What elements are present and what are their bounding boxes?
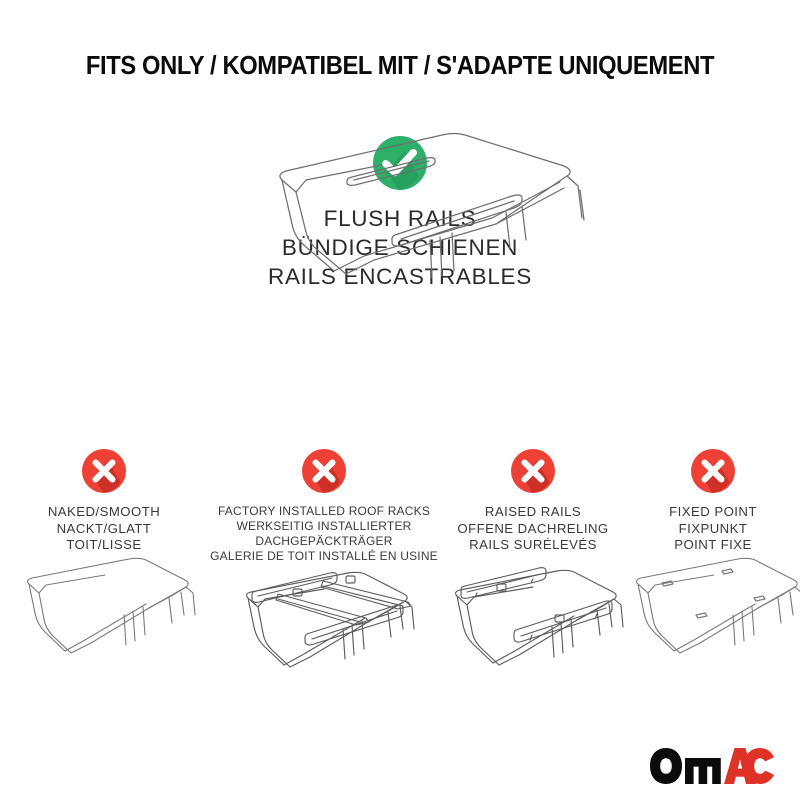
option-label-en: RAISED RAILS bbox=[440, 504, 626, 521]
x-circle-icon bbox=[302, 449, 346, 493]
option-naked-smooth: NAKED/SMOOTH NACKT/GLATT TOIT/LISSE bbox=[0, 449, 208, 554]
option-label-en: NAKED/SMOOTH bbox=[0, 504, 208, 521]
option-label-de-1: WERKSEITIG INSTALLIERTER bbox=[208, 519, 440, 534]
car-roof-fixed-point-illustration bbox=[618, 553, 800, 686]
page-title: FITS ONLY / KOMPATIBEL MIT / S'ADAPTE UN… bbox=[28, 52, 772, 81]
car-roof-factory-roof-racks-illustration bbox=[226, 561, 422, 698]
x-circle-icon bbox=[82, 449, 126, 493]
option-label-de-2: DACHGEPÄCKTRÄGER bbox=[208, 534, 440, 549]
header: FITS ONLY / KOMPATIBEL MIT / S'ADAPTE UN… bbox=[0, 52, 800, 81]
option-label-group: FACTORY INSTALLED ROOF RACKS WERKSEITIG … bbox=[208, 504, 440, 564]
option-fixed-point: FIXED POINT FIXPUNKT POINT FIXE bbox=[626, 449, 800, 554]
car-roof-naked-smooth-illustration bbox=[9, 553, 199, 686]
incompatible-options: NAKED/SMOOTH NACKT/GLATT TOIT/LISSE bbox=[0, 449, 800, 564]
option-label-fr: RAILS SURÉLEVÉS bbox=[440, 537, 626, 554]
car-roof-flush-rails-illustration bbox=[234, 128, 590, 308]
omac-logo bbox=[648, 746, 776, 786]
option-label-group: FIXED POINT FIXPUNKT POINT FIXE bbox=[626, 504, 800, 554]
option-label-de: OFFENE DACHRELING bbox=[440, 521, 626, 538]
car-roof-raised-rails-illustration bbox=[435, 553, 631, 690]
option-factory-roof-racks: FACTORY INSTALLED ROOF RACKS WERKSEITIG … bbox=[208, 449, 440, 564]
x-circle-icon bbox=[691, 449, 735, 493]
option-label-en: FIXED POINT bbox=[626, 504, 800, 521]
option-label-group: NAKED/SMOOTH NACKT/GLATT TOIT/LISSE bbox=[0, 504, 208, 554]
option-label-en: FACTORY INSTALLED ROOF RACKS bbox=[208, 504, 440, 519]
option-raised-rails: RAISED RAILS OFFENE DACHRELING RAILS SUR… bbox=[440, 449, 626, 554]
option-label-fr: POINT FIXE bbox=[626, 537, 800, 554]
option-label-group: RAISED RAILS OFFENE DACHRELING RAILS SUR… bbox=[440, 504, 626, 554]
x-circle-icon bbox=[511, 449, 555, 493]
option-label-fr: TOIT/LISSE bbox=[0, 537, 208, 554]
option-label-de: NACKT/GLATT bbox=[0, 521, 208, 538]
option-label-de: FIXPUNKT bbox=[626, 521, 800, 538]
